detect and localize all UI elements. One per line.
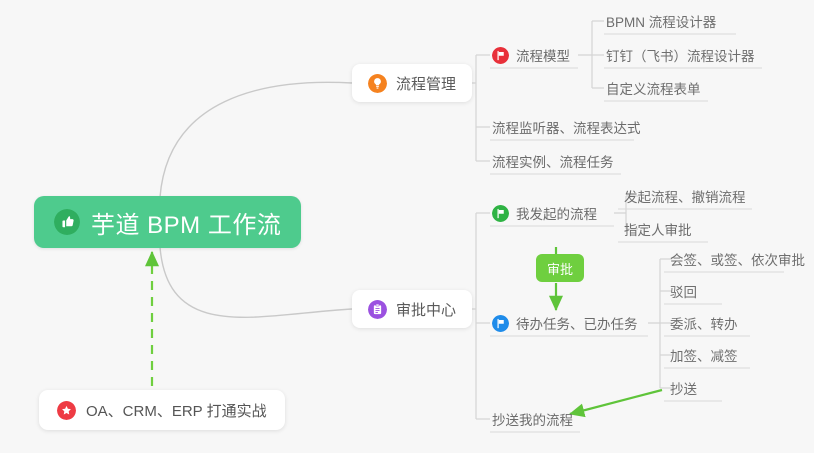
topic-todo-done-tasks[interactable]: 待办任务、已办任务 xyxy=(490,310,646,336)
root-node[interactable]: 芋道 BPM 工作流 xyxy=(34,196,301,248)
leaf-label-bpmn-designer: BPMN 流程设计器 xyxy=(606,11,716,31)
clipboard-icon xyxy=(368,300,387,319)
topic-cc-to-me[interactable]: 抄送我的流程 xyxy=(490,406,581,432)
leaf-custom-process-form[interactable]: 自定义流程表单 xyxy=(604,75,709,101)
leaf-counter-or-sequential-sign[interactable]: 会签、或签、依次审批 xyxy=(668,246,813,272)
callout-approval-badge[interactable]: 审批 xyxy=(536,254,584,282)
leaf-reject[interactable]: 驳回 xyxy=(668,278,705,304)
leaf-label-start-cancel-process: 发起流程、撤销流程 xyxy=(624,186,746,206)
thumbs-up-icon xyxy=(54,209,80,235)
branch-node-approval-center[interactable]: 审批中心 xyxy=(352,290,472,328)
topic-label-instance-task: 流程实例、流程任务 xyxy=(492,151,614,171)
root-label: 芋道 BPM 工作流 xyxy=(91,205,281,240)
leaf-label-dingtalk-feishu-designer: 钉钉（飞书）流程设计器 xyxy=(606,45,755,65)
annotation-label-integration-practice: OA、CRM、ERP 打通实战 xyxy=(86,400,267,421)
leaf-add-remove-sign[interactable]: 加签、减签 xyxy=(668,342,746,368)
branch-node-process-management[interactable]: 流程管理 xyxy=(352,64,472,102)
mindmap-canvas: 芋道 BPM 工作流 流程管理 审批中心 流程模型 流程监 xyxy=(0,0,814,453)
leaf-label-custom-process-form: 自定义流程表单 xyxy=(606,78,701,98)
branch-label-approval-center: 审批中心 xyxy=(396,299,456,320)
leaf-label-delegate-transfer: 委派、转办 xyxy=(670,313,738,333)
topic-listener-expression[interactable]: 流程监听器、流程表达式 xyxy=(490,114,649,140)
topic-my-initiated[interactable]: 我发起的流程 xyxy=(490,200,605,226)
edge-todo-bracket xyxy=(648,259,660,388)
edge-root-to-approval-center xyxy=(160,247,352,317)
annotation-integration-practice[interactable]: OA、CRM、ERP 打通实战 xyxy=(39,390,285,430)
topic-label-my-initiated: 我发起的流程 xyxy=(516,203,597,223)
topic-process-model[interactable]: 流程模型 xyxy=(490,42,578,68)
leaf-label-add-remove-sign: 加签、减签 xyxy=(670,345,738,365)
star-icon xyxy=(57,401,76,420)
topic-label-cc-to-me: 抄送我的流程 xyxy=(492,409,573,429)
callout-label-approval: 审批 xyxy=(547,259,573,278)
topic-label-todo-done-tasks: 待办任务、已办任务 xyxy=(516,313,638,333)
leaf-dingtalk-feishu-designer[interactable]: 钉钉（飞书）流程设计器 xyxy=(604,42,763,68)
leaf-delegate-transfer[interactable]: 委派、转办 xyxy=(668,310,746,336)
leaf-label-reject: 驳回 xyxy=(670,281,697,301)
edge-root-to-process-management xyxy=(160,82,352,197)
branch-label-process-management: 流程管理 xyxy=(396,73,456,94)
flag-icon xyxy=(492,47,509,64)
arrow-cc-to-ccme xyxy=(570,390,662,414)
leaf-label-cc: 抄送 xyxy=(670,378,697,398)
leaf-assignee-approval[interactable]: 指定人审批 xyxy=(622,216,700,242)
flag-icon xyxy=(492,315,509,332)
edge-model-bracket xyxy=(578,21,592,88)
leaf-start-cancel-process[interactable]: 发起流程、撤销流程 xyxy=(622,183,754,209)
topic-label-listener-expression: 流程监听器、流程表达式 xyxy=(492,117,641,137)
topic-label-process-model: 流程模型 xyxy=(516,45,570,65)
leaf-cc[interactable]: 抄送 xyxy=(668,375,705,401)
leaf-bpmn-designer[interactable]: BPMN 流程设计器 xyxy=(604,8,724,34)
leaf-label-counter-or-sequential-sign: 会签、或签、依次审批 xyxy=(670,249,805,269)
topic-instance-task[interactable]: 流程实例、流程任务 xyxy=(490,148,622,174)
lightbulb-icon xyxy=(368,74,387,93)
leaf-label-assignee-approval: 指定人审批 xyxy=(624,219,692,239)
flag-icon xyxy=(492,205,509,222)
